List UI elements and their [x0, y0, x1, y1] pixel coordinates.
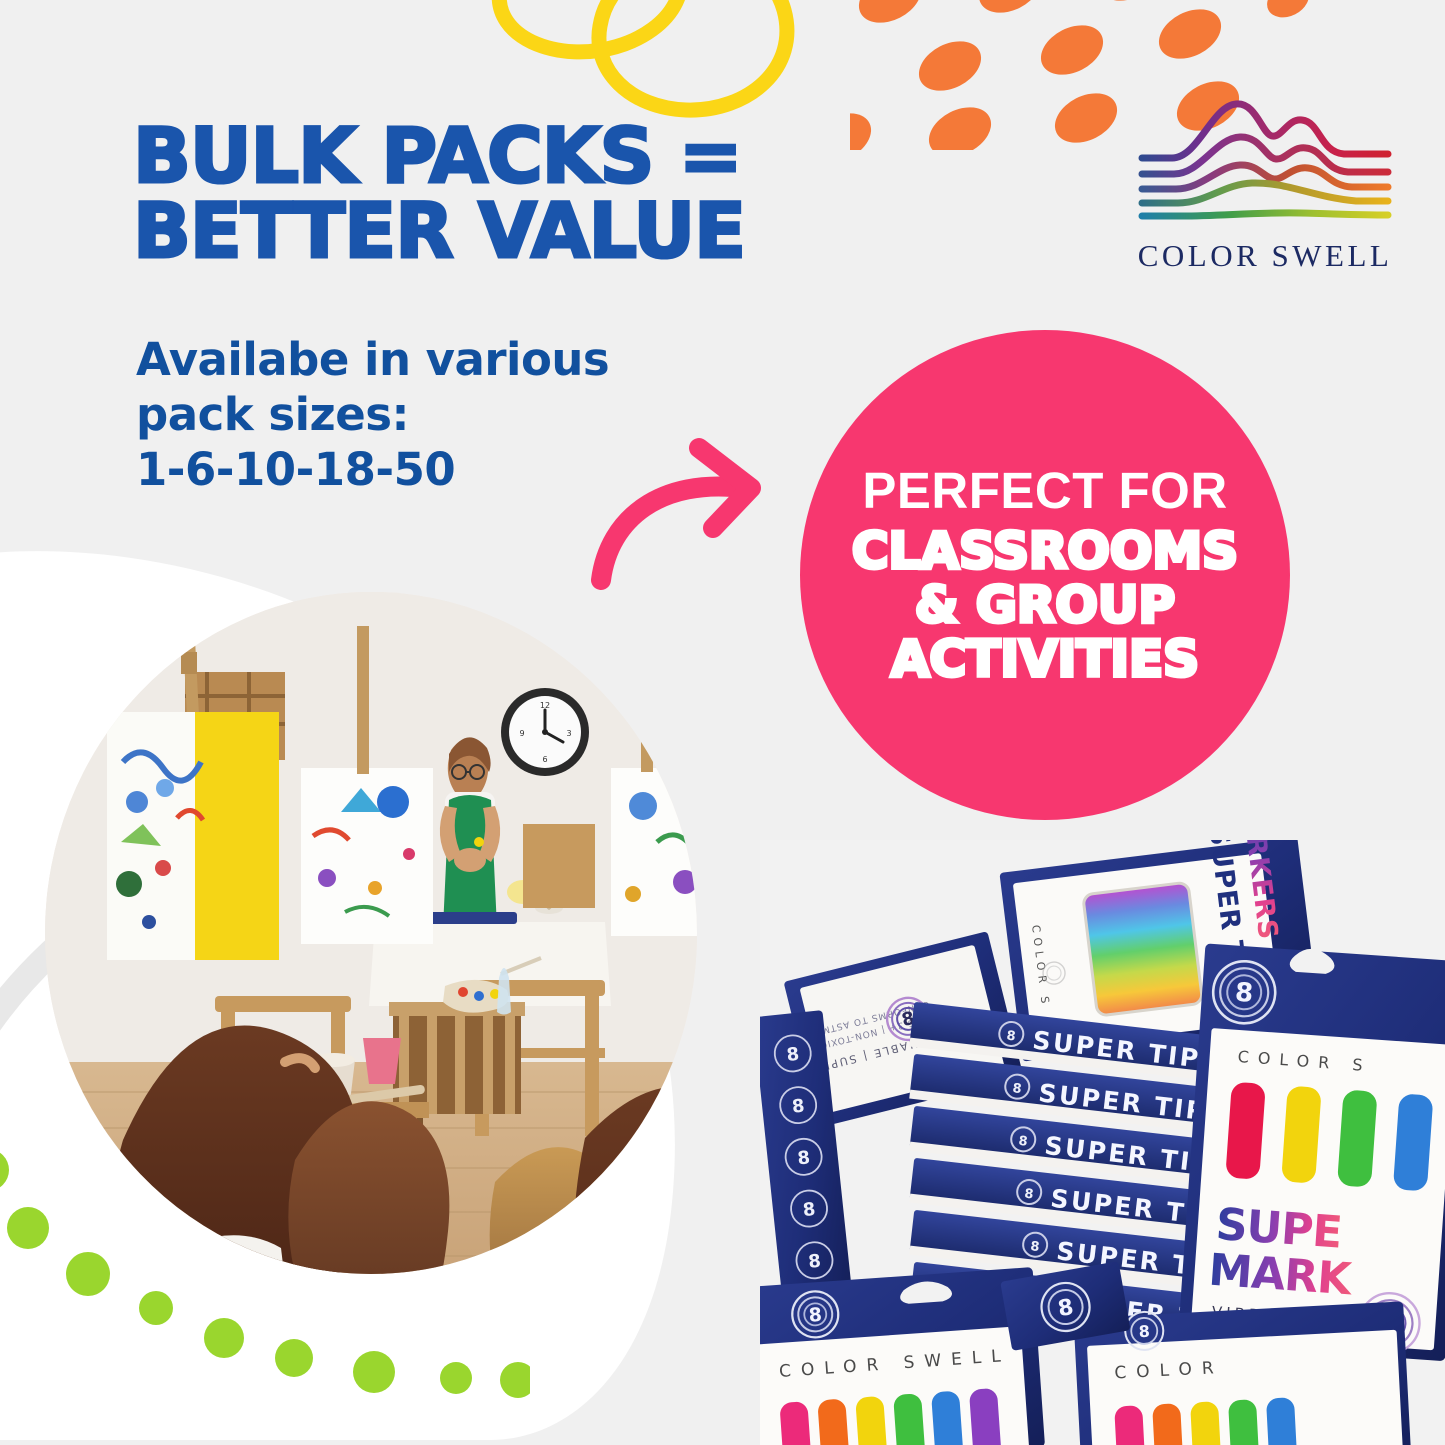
- svg-text:8: 8: [1006, 1029, 1017, 1045]
- svg-text:8: 8: [1234, 978, 1254, 1009]
- status-badge: PERFECT FOR CLASSROOMS & GROUP ACTIVITIE…: [800, 330, 1290, 820]
- svg-text:8: 8: [786, 1044, 801, 1066]
- product-photo: WASHABLE | SUPER TIP AGES 3+ | NON-TOXIC…: [760, 840, 1445, 1445]
- svg-text:8: 8: [791, 1096, 806, 1118]
- badge-line-4: ACTIVITIES: [891, 632, 1199, 686]
- badge-line-2: CLASSROOMS: [852, 524, 1238, 578]
- svg-text:8: 8: [808, 1304, 823, 1327]
- svg-text:8: 8: [1024, 1187, 1035, 1203]
- classroom-photo: 123 69: [45, 592, 697, 1274]
- svg-text:9: 9: [519, 729, 524, 738]
- svg-text:8: 8: [807, 1251, 822, 1273]
- color-swell-logo: COLOR SWELL: [1120, 96, 1410, 281]
- badge-line-3: & GROUP: [915, 578, 1175, 632]
- svg-text:8: 8: [1018, 1134, 1029, 1150]
- svg-text:8: 8: [1138, 1322, 1150, 1342]
- headline-line-2: BETTER VALUE: [133, 193, 813, 268]
- svg-text:12: 12: [540, 701, 550, 710]
- svg-text:8: 8: [796, 1147, 811, 1169]
- product-copy-mirror: COLOR SWELL SUPER TIP M 8 SUPER TIP MARK…: [0, 0, 1, 1]
- product-brand-text: COLOR SWELL: [0, 0, 1, 1]
- svg-text:3: 3: [566, 729, 571, 738]
- subcopy-line-1: Availabe in various: [136, 333, 776, 388]
- yellow-scribble-decoration: [480, 0, 860, 128]
- svg-text:6: 6: [542, 755, 547, 764]
- badge-line-1: PERFECT FOR: [862, 465, 1227, 516]
- logo-wave-icon: [1120, 96, 1410, 236]
- svg-text:8: 8: [1012, 1081, 1023, 1097]
- headline-line-1: BULK PACKS =: [133, 118, 813, 193]
- page-title: BULK PACKS = BETTER VALUE: [133, 118, 813, 268]
- svg-text:8: 8: [802, 1199, 817, 1221]
- svg-text:MARK: MARK: [1207, 1245, 1355, 1306]
- logo-wordmark: COLOR SWELL: [1120, 238, 1410, 274]
- poster-canvas: BULK PACKS = BETTER VALUE Availabe in va…: [0, 0, 1445, 1445]
- svg-text:8: 8: [1030, 1239, 1041, 1255]
